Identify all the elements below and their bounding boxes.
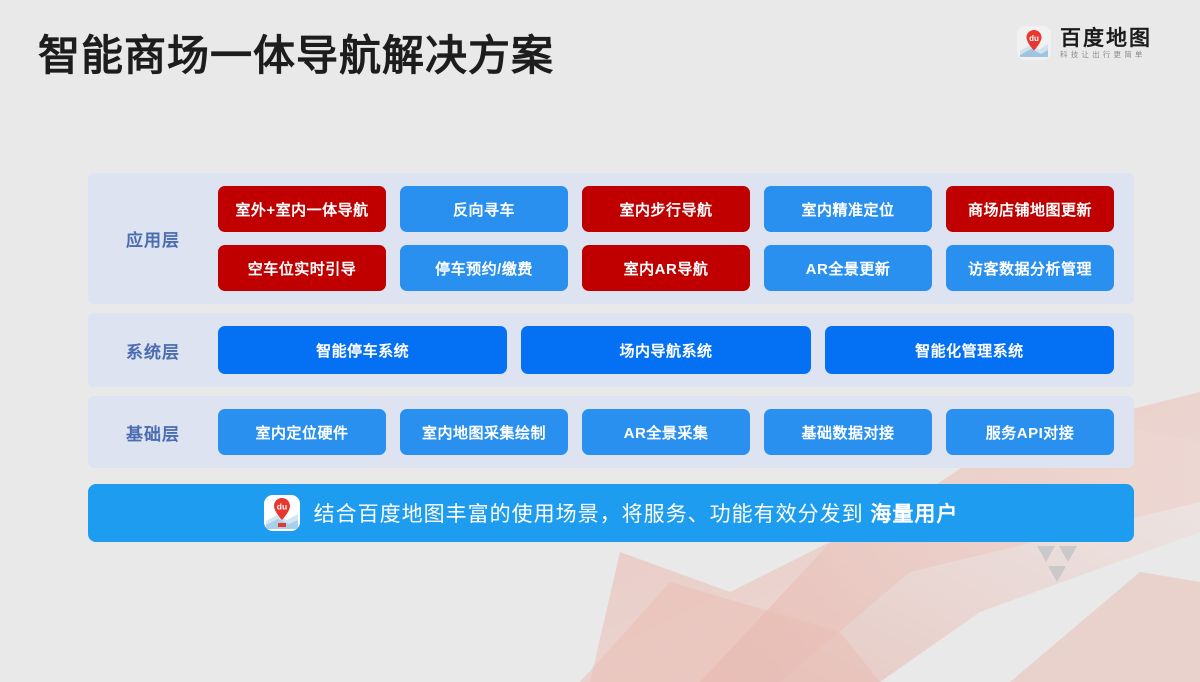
cell-parking-booking-payment[interactable]: 停车预约/缴费 xyxy=(400,245,568,291)
application-layer-row-1: 室外+室内一体导航 反向寻车 室内步行导航 室内精准定位 商场店铺地图更新 xyxy=(218,186,1114,232)
architecture-stack: 应用层 室外+室内一体导航 反向寻车 室内步行导航 室内精准定位 商场店铺地图更… xyxy=(88,173,1134,477)
application-layer-body: 室外+室内一体导航 反向寻车 室内步行导航 室内精准定位 商场店铺地图更新 空车… xyxy=(218,173,1134,304)
system-layer-body: 智能停车系统 场内导航系统 智能化管理系统 xyxy=(218,313,1134,387)
foundation-layer: 基础层 室内定位硬件 室内地图采集绘制 AR全景采集 基础数据对接 服务API对… xyxy=(88,396,1134,468)
cell-indoor-positioning-hardware[interactable]: 室内定位硬件 xyxy=(218,409,386,455)
cell-venue-navigation-system[interactable]: 场内导航系统 xyxy=(521,326,810,374)
banner-text: 结合百度地图丰富的使用场景，将服务、功能有效分发到 海量用户 xyxy=(314,498,959,528)
cell-intelligent-management-system[interactable]: 智能化管理系统 xyxy=(825,326,1114,374)
cell-indoor-map-survey[interactable]: 室内地图采集绘制 xyxy=(400,409,568,455)
svg-text:du: du xyxy=(1029,34,1039,43)
application-layer-row-2: 空车位实时引导 停车预约/缴费 室内AR导航 AR全景更新 访客数据分析管理 xyxy=(218,245,1114,291)
cell-basic-data-integration[interactable]: 基础数据对接 xyxy=(764,409,932,455)
application-layer-label: 应用层 xyxy=(88,226,218,251)
foundation-layer-row-1: 室内定位硬件 室内地图采集绘制 AR全景采集 基础数据对接 服务API对接 xyxy=(218,409,1114,455)
cell-smart-parking-system[interactable]: 智能停车系统 xyxy=(218,326,507,374)
svg-text:du: du xyxy=(276,502,286,512)
page-header: 智能商场一体导航解决方案 du 百度地图 科技让出行更简单 xyxy=(0,0,1200,110)
cell-ar-panorama-update[interactable]: AR全景更新 xyxy=(764,245,932,291)
system-layer-row-1: 智能停车系统 场内导航系统 智能化管理系统 xyxy=(218,326,1114,374)
brand-logo: du 百度地图 科技让出行更简单 xyxy=(1017,26,1152,60)
summary-banner: du 结合百度地图丰富的使用场景，将服务、功能有效分发到 海量用户 xyxy=(88,484,1134,542)
foundation-layer-body: 室内定位硬件 室内地图采集绘制 AR全景采集 基础数据对接 服务API对接 xyxy=(218,396,1134,468)
cell-ar-panorama-capture[interactable]: AR全景采集 xyxy=(582,409,750,455)
baidu-map-pin-icon: du xyxy=(1017,26,1051,60)
foundation-layer-label: 基础层 xyxy=(88,420,218,445)
baidu-map-app-icon: du xyxy=(264,495,300,531)
cell-service-api-integration[interactable]: 服务API对接 xyxy=(946,409,1114,455)
cell-reverse-car-finding[interactable]: 反向寻车 xyxy=(400,186,568,232)
banner-text-emphasis: 海量用户 xyxy=(870,503,958,526)
brand-tagline: 科技让出行更简单 xyxy=(1060,51,1152,59)
banner-text-prefix: 结合百度地图丰富的使用场景，将服务、功能有效分发到 xyxy=(314,503,871,526)
cell-indoor-walking-nav[interactable]: 室内步行导航 xyxy=(582,186,750,232)
cell-indoor-ar-nav[interactable]: 室内AR导航 xyxy=(582,245,750,291)
system-layer-label: 系统层 xyxy=(88,338,218,363)
cell-visitor-data-analytics[interactable]: 访客数据分析管理 xyxy=(946,245,1114,291)
cell-outdoor-indoor-nav[interactable]: 室外+室内一体导航 xyxy=(218,186,386,232)
system-layer: 系统层 智能停车系统 场内导航系统 智能化管理系统 xyxy=(88,313,1134,387)
cell-indoor-precise-pos[interactable]: 室内精准定位 xyxy=(764,186,932,232)
page-title: 智能商场一体导航解决方案 xyxy=(38,22,554,83)
cell-mall-store-map-update[interactable]: 商场店铺地图更新 xyxy=(946,186,1114,232)
application-layer: 应用层 室外+室内一体导航 反向寻车 室内步行导航 室内精准定位 商场店铺地图更… xyxy=(88,173,1134,304)
cell-empty-space-guidance[interactable]: 空车位实时引导 xyxy=(218,245,386,291)
brand-name: 百度地图 xyxy=(1060,28,1152,49)
